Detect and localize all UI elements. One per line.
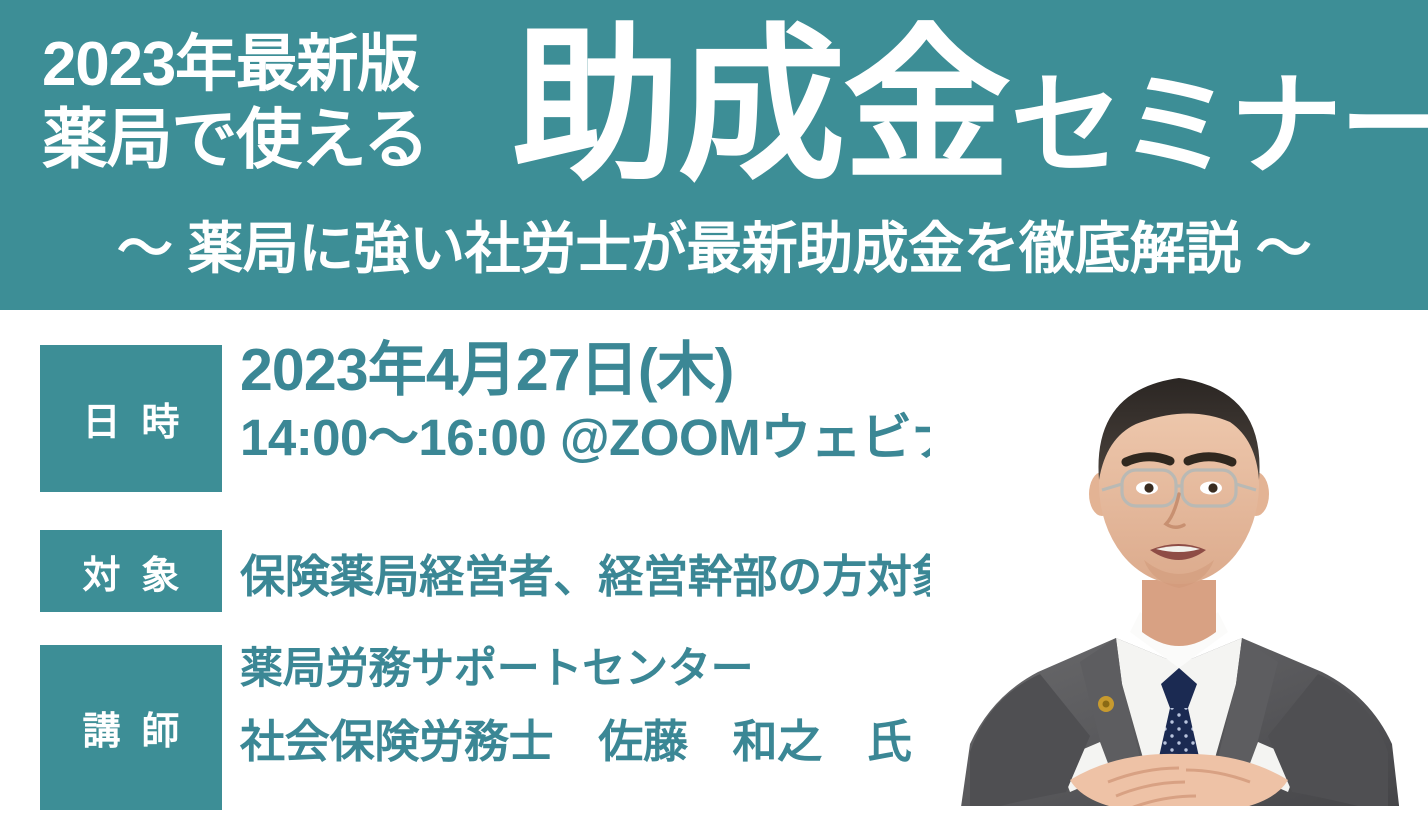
lecturer-organization: 薬局労務サポートセンター <box>240 648 912 691</box>
seminar-poster: 2023年最新版 薬局で使える 助成金 セミナー 〜 薬局に強い社労士が最新助成… <box>0 0 1428 814</box>
value-datetime: 2023年4月27日(木) 14:00〜16:00 @ZOOMウェビナー <box>240 336 1013 469</box>
eyebrow-right <box>1188 457 1232 462</box>
header-title-main-small: セミナー <box>1010 70 1428 182</box>
header-title-line1: 2023年最新版 <box>42 34 512 96</box>
label-target: 対象 <box>40 530 222 612</box>
pupil-right <box>1208 483 1217 492</box>
label-datetime: 日時 <box>40 345 222 492</box>
header-subtitle: 〜 薬局に強い社労士が最新助成金を徹底解説 〜 <box>0 218 1428 280</box>
lecturer-photo <box>930 312 1428 814</box>
eyebrow-left <box>1126 457 1170 462</box>
pupil-left <box>1144 483 1153 492</box>
lecturer-portrait-illustration <box>930 312 1428 814</box>
header-title-main: 助成金 セミナー <box>512 22 1428 190</box>
datetime-date: 2023年4月27日(木) <box>240 336 1013 406</box>
desk-edge <box>930 806 1428 814</box>
header-title-left: 2023年最新版 薬局で使える <box>42 34 512 172</box>
header-title-main-big: 助成金 <box>512 22 1008 190</box>
neck <box>1142 580 1216 646</box>
datetime-time-platform: 14:00〜16:00 @ZOOMウェビナー <box>240 406 1013 470</box>
header-title-line2: 薬局で使える <box>42 106 512 172</box>
label-lecturer: 講師 <box>40 645 222 810</box>
lecturer-name: 社会保険労務士 佐藤 和之 氏 <box>240 719 912 764</box>
lapel-pin-center <box>1103 701 1110 708</box>
header-band: 2023年最新版 薬局で使える 助成金 セミナー 〜 薬局に強い社労士が最新助成… <box>0 0 1428 310</box>
value-target: 保険薬局経営者、経営幹部の方対象 <box>240 540 956 605</box>
value-lecturer: 薬局労務サポートセンター 社会保険労務士 佐藤 和之 氏 <box>240 648 912 764</box>
